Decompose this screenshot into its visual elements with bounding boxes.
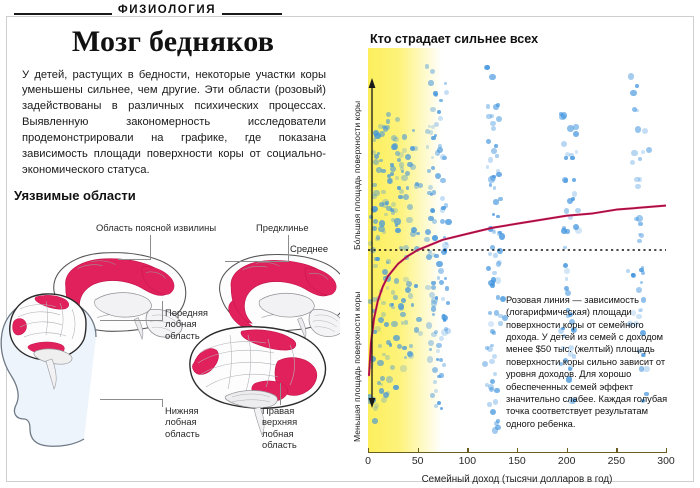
brain-view-head-profile: [1, 294, 96, 446]
leader-inferior-frontal-v: [162, 399, 163, 407]
leader-inferior-frontal-h: [100, 399, 162, 400]
section-tag-label: ФИЗИОЛОГИЯ: [112, 4, 222, 16]
y-axis-label-high: Бо́льшая площадь поверхности коры: [352, 101, 362, 250]
x-axis-tick-label: 200: [558, 455, 576, 467]
leader-right-superior-v: [280, 383, 281, 405]
brain-label-anterior-frontal: Передняя лобная область: [165, 307, 219, 341]
leader-precuneus-h: [225, 261, 289, 262]
page-title: Мозг бедняков: [14, 26, 332, 58]
x-axis-tick: [616, 448, 617, 453]
x-axis-tick-label: 300: [657, 455, 675, 467]
x-axis: 050100150200250300: [368, 452, 666, 468]
leader-precuneus-v: [288, 235, 289, 261]
vulnerable-regions-title: Уязвимые области: [14, 188, 136, 203]
leader-cingulate-h: [118, 259, 151, 260]
x-axis-tick: [418, 448, 419, 453]
y-axis-label-low: Меньшая площадь поверхности коры: [352, 292, 362, 442]
x-axis-tick-label: 250: [608, 455, 626, 467]
leader-cingulate-v: [150, 235, 151, 259]
brain-label-precuneus: Предклинье: [256, 222, 330, 233]
chart-panel: Кто страдает сильнее всех Бо́льшая площа…: [340, 22, 692, 482]
x-axis-tick-label: 150: [508, 455, 526, 467]
brain-label-right-superior-frontal: Правая верхняя лобная область: [262, 405, 324, 451]
x-axis-tick: [467, 448, 468, 453]
brain-label-cingulate: Область поясной извилины: [96, 222, 246, 233]
section-rule-right: [222, 13, 282, 15]
x-axis-tick: [567, 448, 568, 453]
leader-cingulate-tip: [150, 235, 151, 236]
chart-legend-note: Розовая линия — зависимость (логарифмиче…: [506, 294, 672, 430]
x-axis-tick-label: 100: [459, 455, 477, 467]
x-axis-tick-label: 50: [412, 455, 424, 467]
section-rule-left: [14, 13, 112, 15]
leader-anterior-frontal-v: [162, 301, 163, 321]
chart-title: Кто страдает сильнее всех: [370, 32, 538, 46]
brain-diagram-group: Область поясной извилины Предклинье Пере…: [0, 205, 340, 483]
x-axis-title: Семейный доход (тысячи долларов в год): [368, 474, 666, 485]
infographic-page: ФИЗИОЛОГИЯ Мозг бедняков У детей, растущ…: [0, 0, 700, 488]
x-axis-tick: [368, 448, 369, 453]
x-axis-tick: [517, 448, 518, 453]
mean-label: Среднее: [290, 243, 328, 254]
x-axis-tick-label: 0: [365, 455, 371, 467]
leader-anterior-frontal-h: [100, 320, 162, 321]
intro-paragraph: У детей, растущих в бедности, некоторые …: [14, 68, 332, 179]
brain-view-right-medial: [220, 255, 340, 339]
brain-label-inferior-frontal: Нижняя лобная область: [165, 405, 217, 439]
x-axis-tick: [666, 448, 667, 453]
